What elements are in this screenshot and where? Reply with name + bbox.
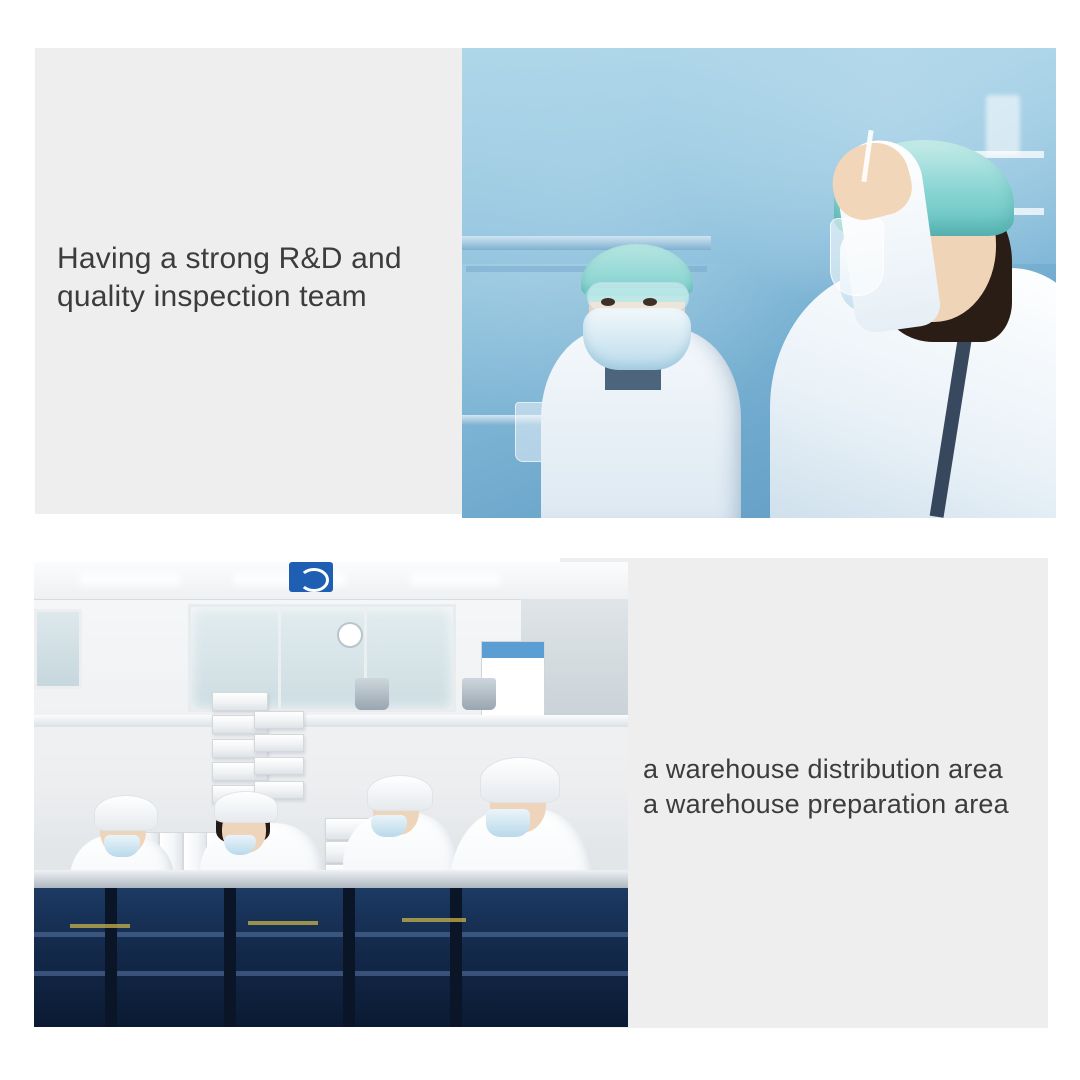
page-root: Having a strong R&D and quality inspecti…	[0, 0, 1080, 1080]
photo-lab-inspection	[462, 48, 1056, 518]
caption-rnd-quality: Having a strong R&D and quality inspecti…	[57, 240, 457, 316]
worker4-hairnet	[480, 757, 560, 803]
floor-beam-3	[343, 888, 355, 1028]
blue-circular-sign	[289, 562, 333, 592]
floor-stripe-1	[70, 924, 130, 928]
worker1-hairnet	[94, 795, 158, 831]
floor-beam-4	[450, 888, 462, 1028]
technician-left-face-mask	[583, 308, 691, 370]
worker3-hairnet	[367, 775, 433, 811]
box-cluster-b2	[254, 734, 304, 752]
ceiling-light-3	[414, 576, 497, 582]
worker1-face-mask	[104, 835, 140, 857]
section-rnd-quality: Having a strong R&D and quality inspecti…	[0, 0, 1080, 540]
floor-rail-2	[34, 971, 628, 976]
box-cluster-b1	[254, 711, 304, 729]
floor-stripe-3	[402, 918, 466, 922]
lab-technician-right	[750, 88, 1056, 518]
ceiling-light-1	[82, 576, 177, 582]
warehouse-floor	[34, 888, 628, 1028]
steel-pot-1	[355, 678, 389, 710]
steel-pot-2	[462, 678, 496, 710]
box-cluster-a1	[212, 692, 268, 711]
floor-stripe-2	[248, 921, 318, 925]
window-mullion-1	[278, 607, 281, 709]
section-warehouse: a warehouse distribution area a warehous…	[0, 540, 1080, 1080]
floor-rail-1	[34, 932, 628, 937]
stainless-steel-table	[34, 870, 628, 888]
lab-technician-left	[533, 188, 763, 518]
floor-beam-1	[105, 888, 117, 1028]
photo-warehouse-packing	[34, 562, 628, 1027]
floor-beam-2	[224, 888, 236, 1028]
caption-warehouse: a warehouse distribution area a warehous…	[643, 752, 1063, 822]
worker2-hairnet	[214, 791, 278, 823]
worker4-face-mask	[486, 809, 530, 837]
worker3-face-mask	[371, 815, 407, 837]
back-counter	[34, 715, 628, 727]
warehouse-window-small	[34, 609, 82, 689]
